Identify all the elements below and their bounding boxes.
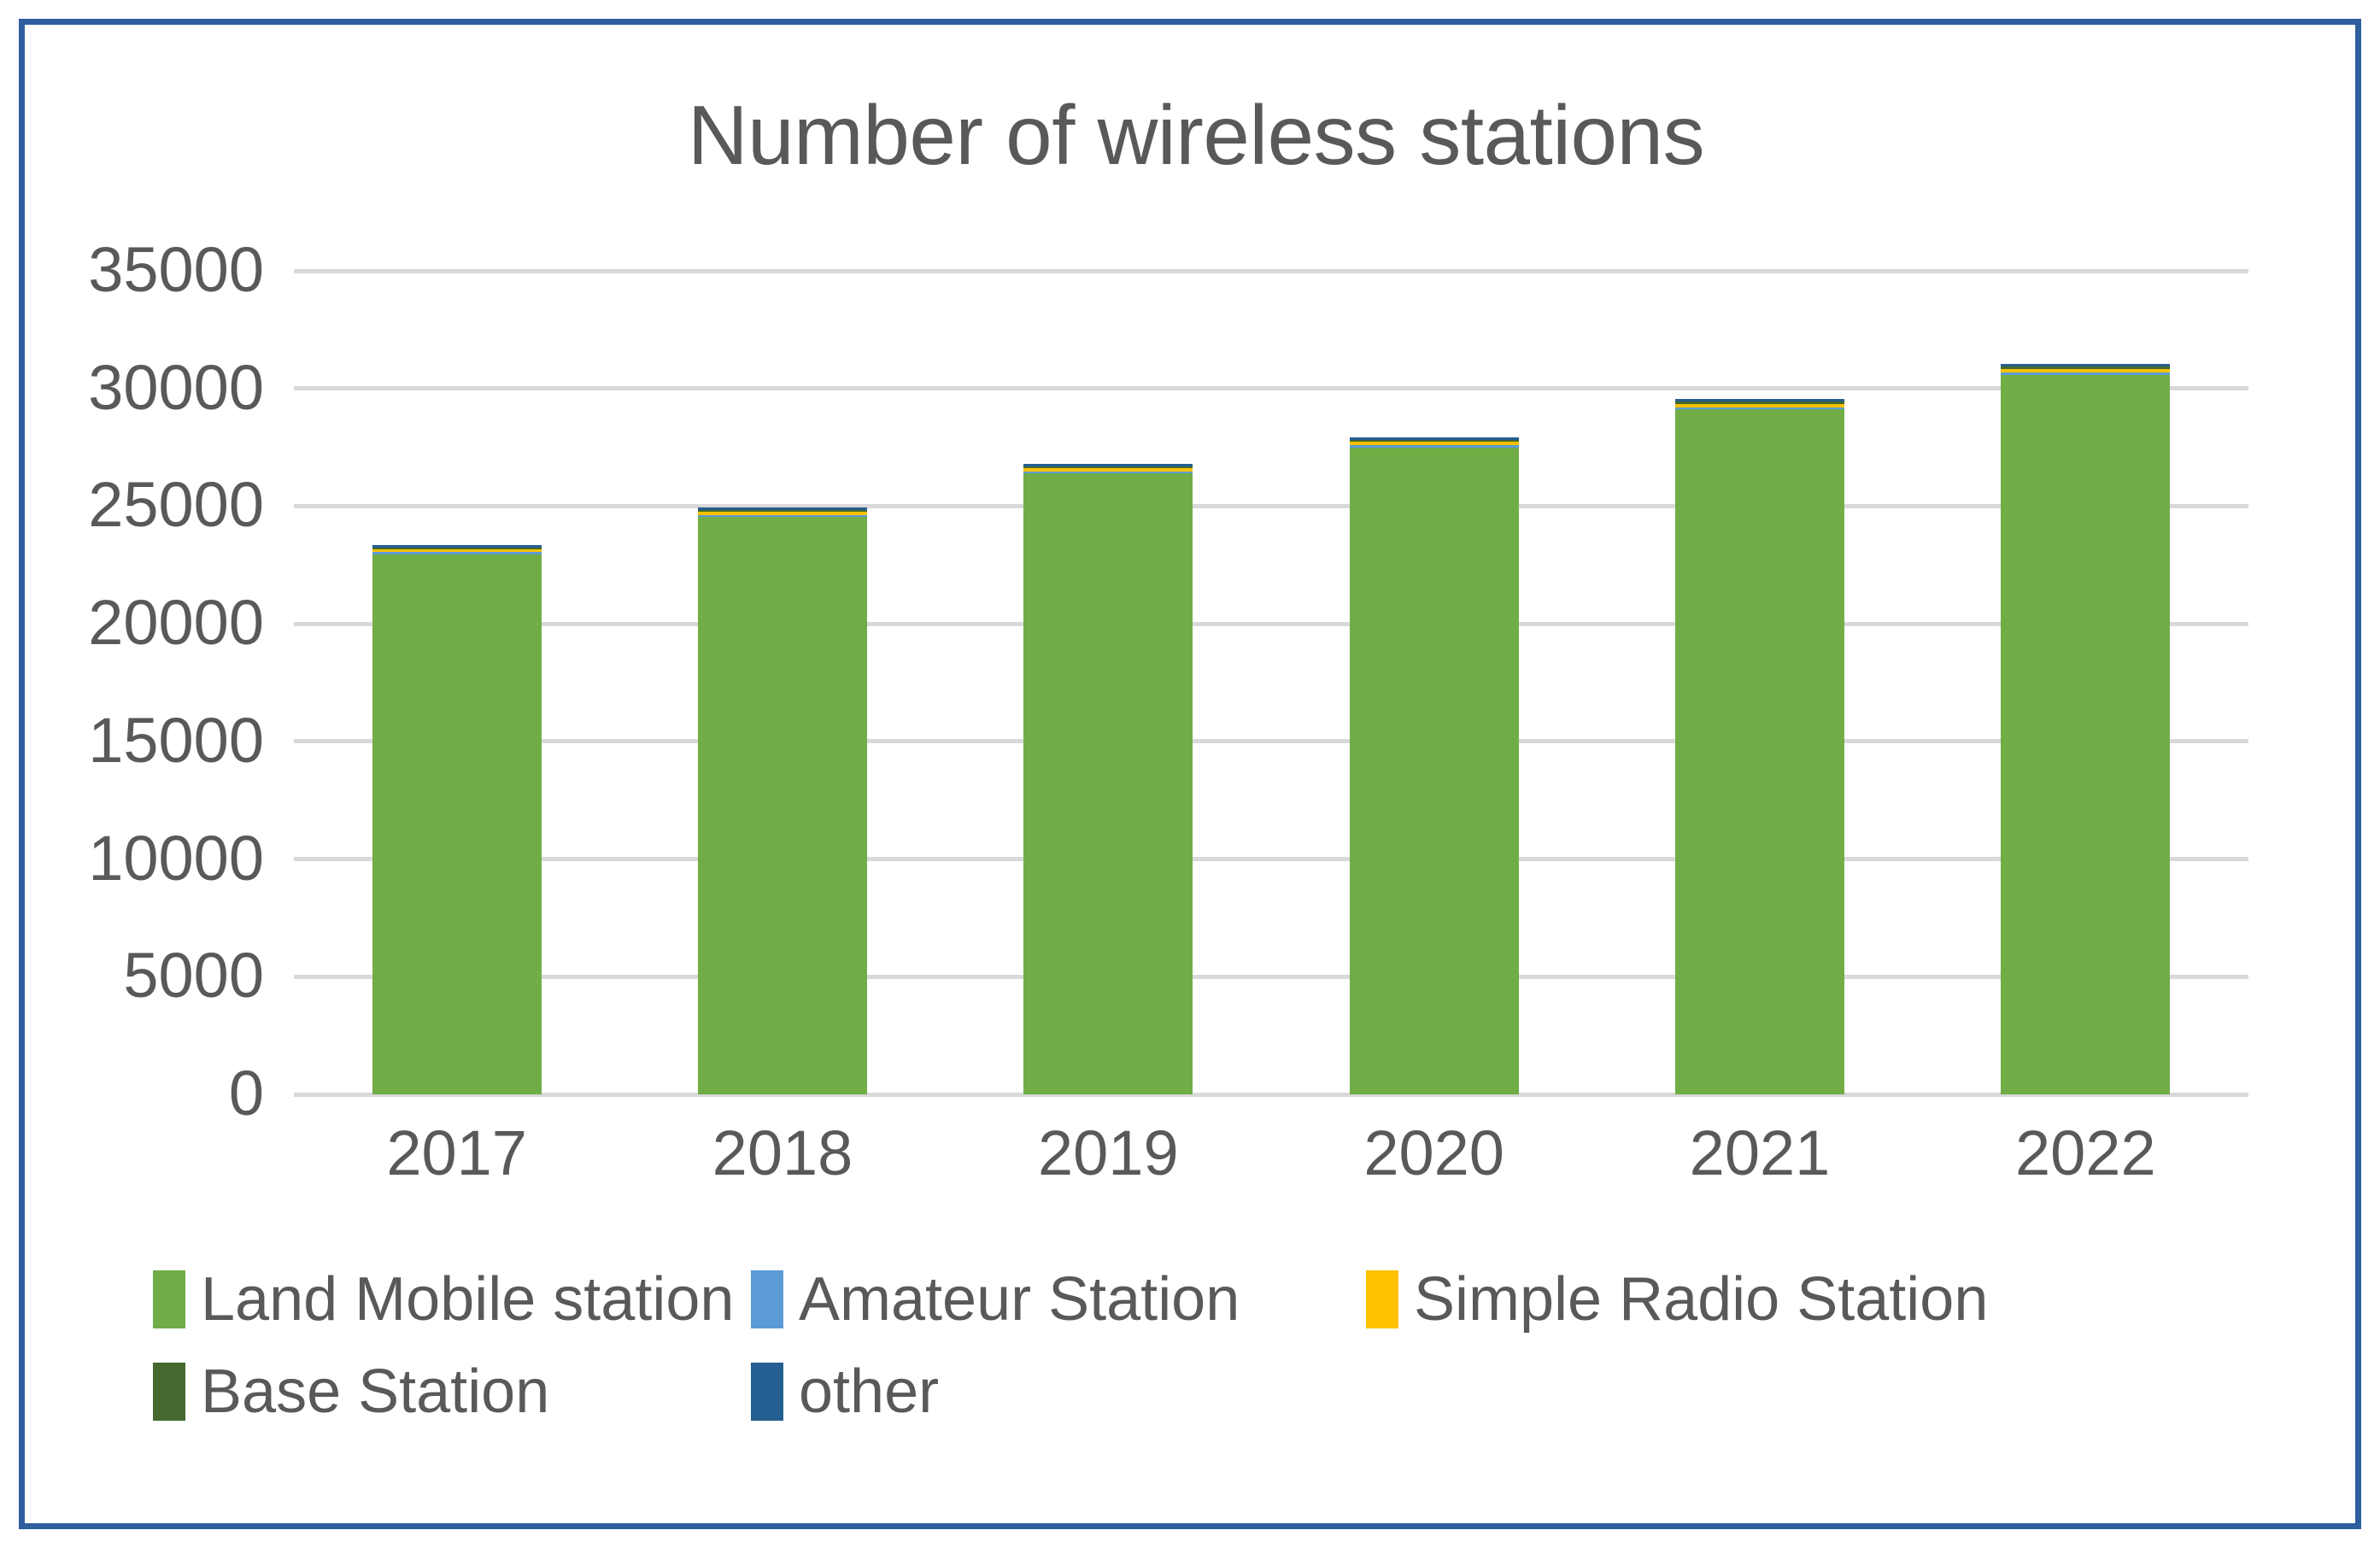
stacked-bar[interactable] bbox=[1675, 399, 1844, 1094]
legend-item-land-mobile-station[interactable]: Land Mobile station bbox=[153, 1269, 751, 1330]
legend-label: Simple Radio Station bbox=[1414, 1269, 1988, 1330]
legend-item-amateur-station[interactable]: Amateur Station bbox=[751, 1269, 1366, 1330]
legend-label: other bbox=[799, 1361, 939, 1422]
bar-segment-land-mobile-station[interactable] bbox=[1675, 409, 1844, 1094]
y-axis-tick-label: 30000 bbox=[8, 356, 264, 419]
y-axis-tick-label: 5000 bbox=[8, 944, 264, 1007]
legend-item-other[interactable]: other bbox=[751, 1361, 1366, 1422]
bar-group[interactable] bbox=[2001, 271, 2170, 1094]
chart-page: Number of wireless stations 050001000015… bbox=[0, 0, 2380, 1548]
bar-group[interactable] bbox=[698, 271, 867, 1094]
x-axis-tick-label: 2017 bbox=[294, 1122, 619, 1185]
stacked-bar[interactable] bbox=[2001, 364, 2170, 1094]
bar-segment-land-mobile-station[interactable] bbox=[1350, 448, 1519, 1094]
x-axis-tick-label: 2019 bbox=[946, 1122, 1271, 1185]
legend-item-simple-radio-station[interactable]: Simple Radio Station bbox=[1366, 1269, 2015, 1330]
stacked-bar[interactable] bbox=[372, 545, 542, 1094]
legend-label: Amateur Station bbox=[799, 1269, 1240, 1330]
x-axis: 201720182019202020212022 bbox=[294, 1103, 2248, 1205]
y-axis-tick-label: 20000 bbox=[8, 591, 264, 654]
y-axis-tick-label: 25000 bbox=[8, 473, 264, 537]
bar-segment-land-mobile-station[interactable] bbox=[1023, 473, 1193, 1094]
bar-group[interactable] bbox=[372, 271, 542, 1094]
chart-frame: Number of wireless stations 050001000015… bbox=[19, 19, 2361, 1529]
bar-segment-land-mobile-station[interactable] bbox=[372, 554, 542, 1094]
legend-row: Base Stationother bbox=[153, 1346, 2237, 1438]
legend-swatch-icon bbox=[751, 1270, 783, 1328]
x-axis-tick-label: 2020 bbox=[1271, 1122, 1597, 1185]
legend-label: Land Mobile station bbox=[201, 1269, 734, 1330]
legend-swatch-icon bbox=[153, 1270, 185, 1328]
bar-group[interactable] bbox=[1023, 271, 1193, 1094]
stacked-bar[interactable] bbox=[1350, 437, 1519, 1094]
bar-group[interactable] bbox=[1675, 271, 1844, 1094]
legend-item-base-station[interactable]: Base Station bbox=[153, 1361, 751, 1422]
x-axis-tick-label: 2018 bbox=[619, 1122, 945, 1185]
y-axis-tick-label: 0 bbox=[8, 1062, 264, 1125]
bar-group[interactable] bbox=[1350, 271, 1519, 1094]
y-axis-tick-label: 15000 bbox=[8, 709, 264, 772]
y-axis-tick-label: 10000 bbox=[8, 827, 264, 890]
x-axis-tick-label: 2021 bbox=[1597, 1122, 1922, 1185]
bar-segment-land-mobile-station[interactable] bbox=[698, 517, 867, 1094]
legend-label: Base Station bbox=[201, 1361, 549, 1422]
legend-swatch-icon bbox=[153, 1363, 185, 1421]
bar-segment-land-mobile-station[interactable] bbox=[2001, 375, 2170, 1094]
legend-swatch-icon bbox=[1366, 1270, 1398, 1328]
stacked-bar[interactable] bbox=[698, 507, 867, 1094]
y-axis-tick-label: 35000 bbox=[8, 238, 264, 302]
x-axis-tick-label: 2022 bbox=[1923, 1122, 2248, 1185]
stacked-bar[interactable] bbox=[1023, 464, 1193, 1094]
bars-layer bbox=[294, 271, 2248, 1094]
legend-swatch-icon bbox=[751, 1363, 783, 1421]
legend-row: Land Mobile stationAmateur StationSimple… bbox=[153, 1253, 2237, 1346]
chart-legend: Land Mobile stationAmateur StationSimple… bbox=[153, 1253, 2237, 1438]
